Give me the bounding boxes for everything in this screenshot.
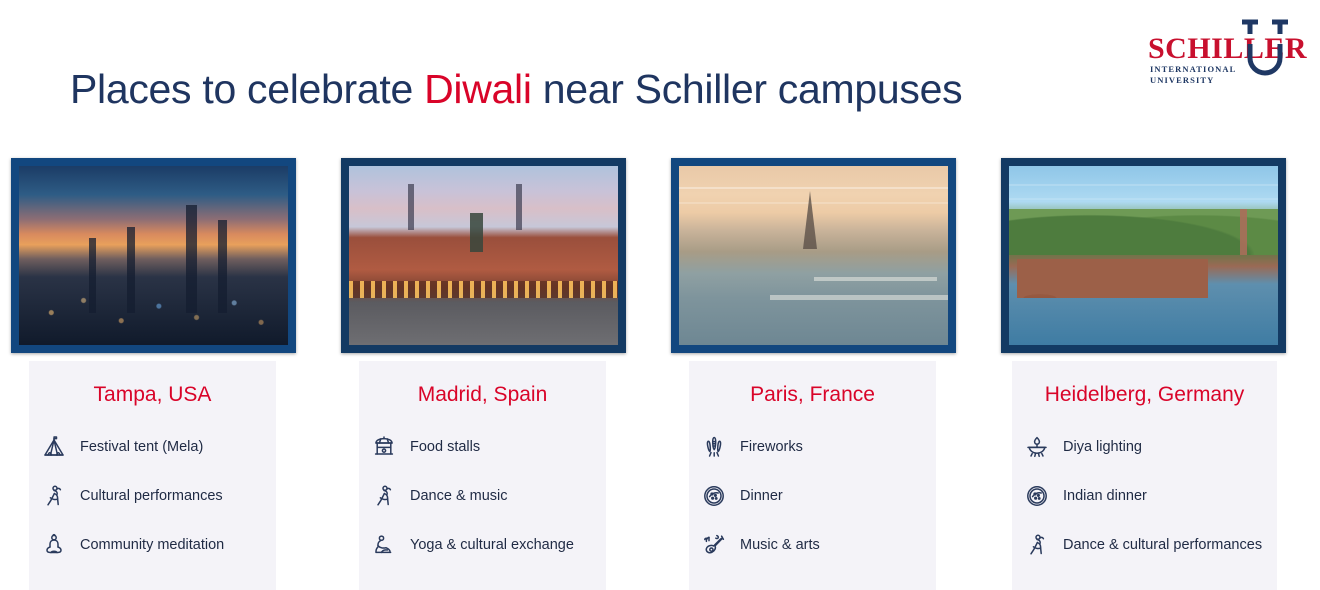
list-item-label: Dance & music [410, 488, 508, 505]
title-part-after: near Schiller campuses [532, 66, 963, 112]
diya-lamp-icon [1024, 432, 1050, 462]
schiller-logo: SCHILLER INTERNATIONAL UNIVERSITY [1148, 14, 1298, 82]
city-title-paris: Paris, France [689, 383, 936, 407]
list-item-label: Dance & cultural performances [1063, 537, 1262, 554]
festival-tent-icon [41, 432, 67, 462]
dancer-icon [371, 481, 397, 511]
info-card-tampa: Tampa, USA Festival tent (Mela) [29, 361, 276, 590]
feature-list-madrid: Food stalls Dance & music [359, 425, 606, 567]
list-item[interactable]: Dance & music [371, 474, 600, 518]
photo-frame-tampa [11, 158, 296, 353]
u-monogram-icon [1232, 14, 1298, 80]
list-item[interactable]: Dinner [701, 474, 930, 518]
dancer-icon [1024, 530, 1050, 560]
guitar-music-icon [701, 530, 727, 560]
food-stall-icon [371, 432, 397, 462]
campus-column-paris: Paris, France Fireworks [660, 158, 990, 590]
title-part-before: Places to celebrate [70, 66, 424, 112]
list-item[interactable]: Dance & cultural performances [1024, 523, 1271, 567]
list-item-label: Indian dinner [1063, 488, 1147, 505]
info-card-paris: Paris, France Fireworks [689, 361, 936, 590]
yoga-icon [371, 530, 397, 560]
list-item-label: Music & arts [740, 537, 820, 554]
list-item-label: Fireworks [740, 439, 803, 456]
list-item[interactable]: Cultural performances [41, 474, 270, 518]
list-item[interactable]: Music & arts [701, 523, 930, 567]
campus-card-grid: Tampa, USA Festival tent (Mela) [0, 158, 1320, 590]
photo-frame-madrid [341, 158, 626, 353]
city-title-tampa: Tampa, USA [29, 383, 276, 407]
list-item[interactable]: Festival tent (Mela) [41, 425, 270, 469]
info-card-heidelberg: Heidelberg, Germany Diya lighting [1012, 361, 1277, 590]
title-highlight: Diwali [424, 66, 532, 112]
photo-frame-paris [671, 158, 956, 353]
list-item-label: Yoga & cultural exchange [410, 537, 574, 554]
campus-column-tampa: Tampa, USA Festival tent (Mela) [0, 158, 330, 590]
page-title: Places to celebrate Diwali near Schiller… [70, 66, 962, 113]
list-item[interactable]: Food stalls [371, 425, 600, 469]
campus-column-heidelberg: Heidelberg, Germany Diya lighting [990, 158, 1320, 590]
list-item[interactable]: Yoga & cultural exchange [371, 523, 600, 567]
photo-tampa [19, 166, 288, 345]
feature-list-tampa: Festival tent (Mela) Cultural per [29, 425, 276, 567]
list-item-label: Food stalls [410, 439, 480, 456]
dinner-plate-icon [701, 481, 727, 511]
meditation-icon [41, 530, 67, 560]
list-item-label: Festival tent (Mela) [80, 439, 203, 456]
list-item[interactable]: Diya lighting [1024, 425, 1271, 469]
city-title-heidelberg: Heidelberg, Germany [1012, 383, 1277, 407]
list-item[interactable]: Fireworks [701, 425, 930, 469]
list-item-label: Diya lighting [1063, 439, 1142, 456]
info-card-madrid: Madrid, Spain Food stalls [359, 361, 606, 590]
list-item-label: Cultural performances [80, 488, 223, 505]
campus-column-madrid: Madrid, Spain Food stalls [330, 158, 660, 590]
feature-list-heidelberg: Diya lighting Indian dinner [1012, 425, 1277, 567]
list-item-label: Community meditation [80, 537, 224, 554]
feature-list-paris: Fireworks Dinner [689, 425, 936, 567]
photo-frame-heidelberg [1001, 158, 1286, 353]
fireworks-icon [701, 432, 727, 462]
photo-heidelberg [1009, 166, 1278, 345]
list-item[interactable]: Indian dinner [1024, 474, 1271, 518]
dinner-plate-icon [1024, 481, 1050, 511]
city-title-madrid: Madrid, Spain [359, 383, 606, 407]
list-item[interactable]: Community meditation [41, 523, 270, 567]
dancer-icon [41, 481, 67, 511]
list-item-label: Dinner [740, 488, 783, 505]
photo-madrid [349, 166, 618, 345]
logo-subtitle: INTERNATIONAL UNIVERSITY [1150, 64, 1236, 86]
photo-paris [679, 166, 948, 345]
